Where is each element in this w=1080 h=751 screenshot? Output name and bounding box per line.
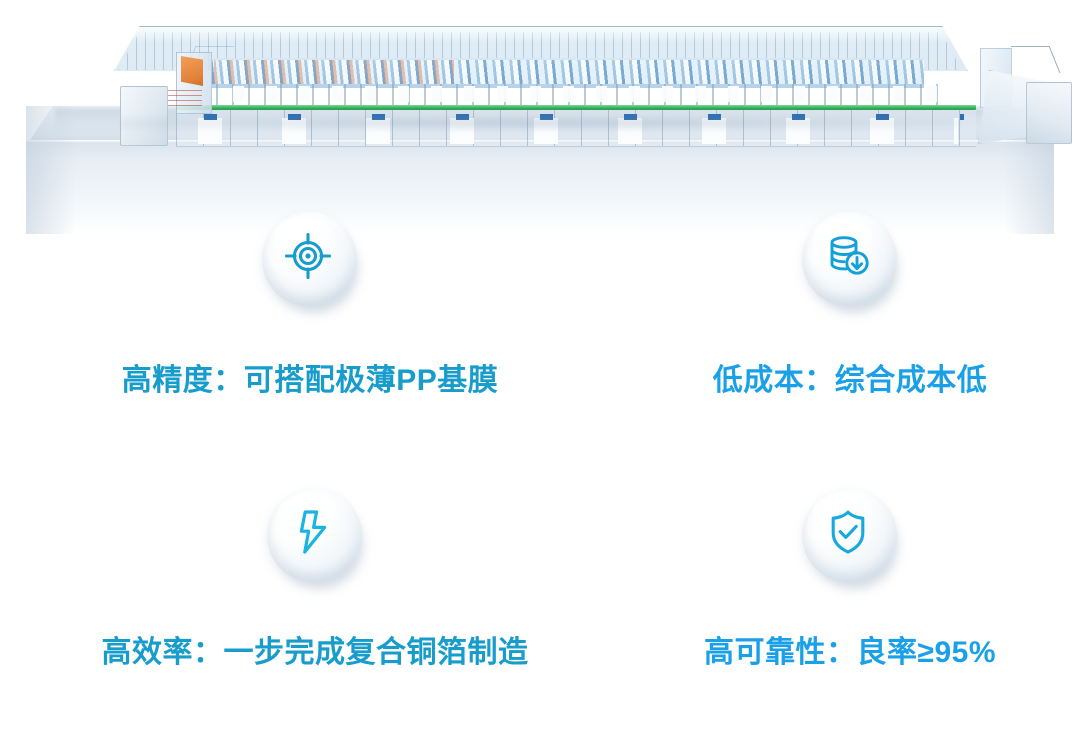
feature-item-high-efficiency[interactable]: 高效率：一步完成复合铜箔制造 (45, 484, 585, 744)
rewinder-cabinet (1026, 82, 1072, 144)
copper-tint-tiles (214, 60, 454, 84)
feature-label-high-efficiency: 高效率：一步完成复合铜箔制造 (45, 636, 585, 669)
feature-item-high-reliability[interactable]: 高可靠性：良率≥95% (580, 484, 1080, 744)
truss-right (1011, 46, 1061, 73)
feature-icon-orb-wrap (260, 208, 360, 318)
machine-ground-shadow (120, 116, 960, 130)
unwinder-roll (181, 56, 203, 86)
feature-label-high-precision: 高精度：可搭配极薄PP基膜 (40, 364, 580, 397)
feature-item-low-cost[interactable]: 低成本：综合成本低 (580, 208, 1080, 468)
feature-icon-orb-wrap (800, 208, 900, 318)
shield-check-icon (800, 484, 895, 579)
feature-icon-orb-wrap (265, 484, 365, 594)
coin-stack-down-arrow-icon (800, 208, 895, 303)
production-line-machine (80, 24, 1000, 122)
hood-highlight (130, 27, 950, 41)
pump-modules (200, 86, 940, 102)
feature-label-low-cost: 低成本：综合成本低 (580, 364, 1080, 397)
target-crosshair-icon (260, 208, 355, 303)
feature-item-high-precision[interactable]: 高精度：可搭配极薄PP基膜 (40, 208, 580, 468)
feature-icon-orb-wrap (800, 484, 900, 594)
feature-grid: 高精度：可搭配极薄PP基膜 (0, 196, 1080, 751)
piping-left (166, 90, 202, 106)
feature-label-high-reliability: 高可靠性：良率≥95% (580, 636, 1080, 669)
lightning-bolt-icon (265, 484, 360, 579)
feature-infographic-page: 高精度：可搭配极薄PP基膜 (0, 0, 1080, 751)
